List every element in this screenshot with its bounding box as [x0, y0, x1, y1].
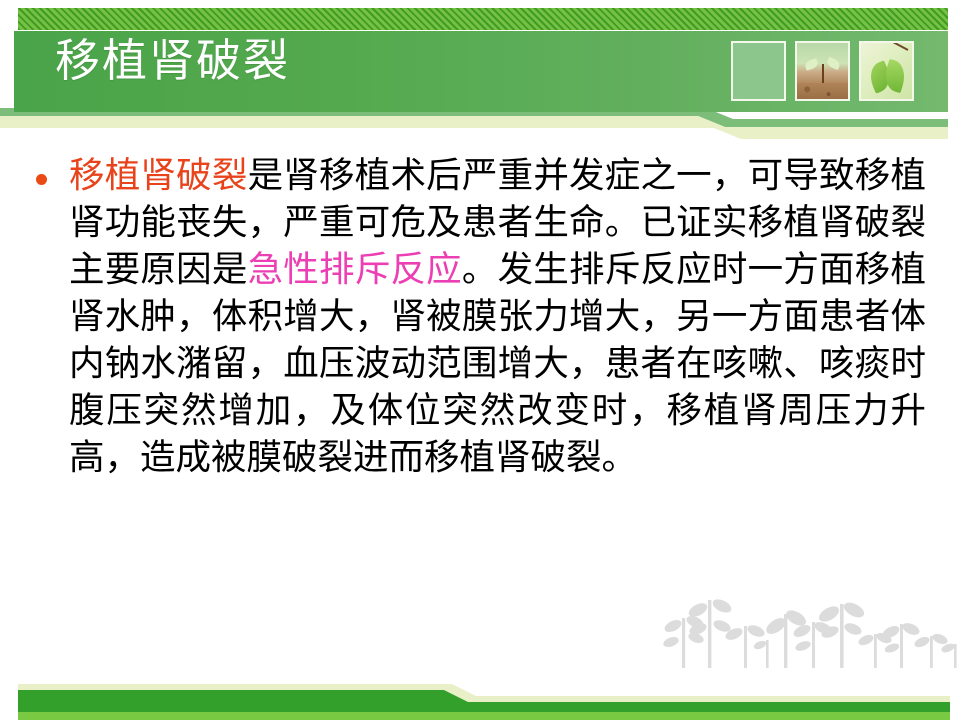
grass-sprout-silhouette	[660, 596, 960, 668]
header-thumbnail-strip	[731, 41, 914, 101]
sprout-cluster-1	[662, 614, 705, 668]
branch-shape	[872, 41, 908, 51]
bullet-marker-icon	[36, 174, 47, 185]
body-paragraph: 移植肾破裂是肾移植术后严重并发症之一，可导致移植肾功能丧失，严重可危及患者生命。…	[69, 152, 926, 481]
sprout-cluster-6	[792, 620, 834, 668]
top-stripe-band	[18, 8, 948, 30]
footer-light-green-bar	[18, 712, 950, 720]
sprout-cluster-7	[816, 600, 866, 668]
sprout-leaf-right-icon	[826, 57, 841, 70]
body-content: 移植肾破裂是肾移植术后严重并发症之一，可导致移植肾功能丧失，严重可危及患者生命。…	[36, 152, 926, 481]
sprout-leaf-left-icon	[804, 58, 819, 71]
leaf-photo-thumbnail	[859, 41, 914, 101]
sprout-cluster-2	[687, 597, 734, 668]
stem-shape	[822, 64, 824, 83]
footer-bars	[0, 662, 960, 720]
page-title: 移植肾破裂	[55, 38, 290, 83]
header-step-divider	[0, 108, 960, 142]
sprout-photo-thumbnail	[795, 41, 850, 101]
emphasis-red-text: 移植肾破裂	[69, 155, 248, 196]
soil-shape	[797, 83, 848, 99]
sprout-cluster-5	[764, 607, 809, 668]
plain-green-thumbnail	[731, 41, 786, 101]
emphasis-pink-text: 急性排斥反应	[248, 249, 462, 290]
slide-canvas: 移植肾破裂 移植肾破裂是肾移植术后严重并发症之一，可导致移植肾功能丧失，严重可危…	[0, 0, 960, 720]
